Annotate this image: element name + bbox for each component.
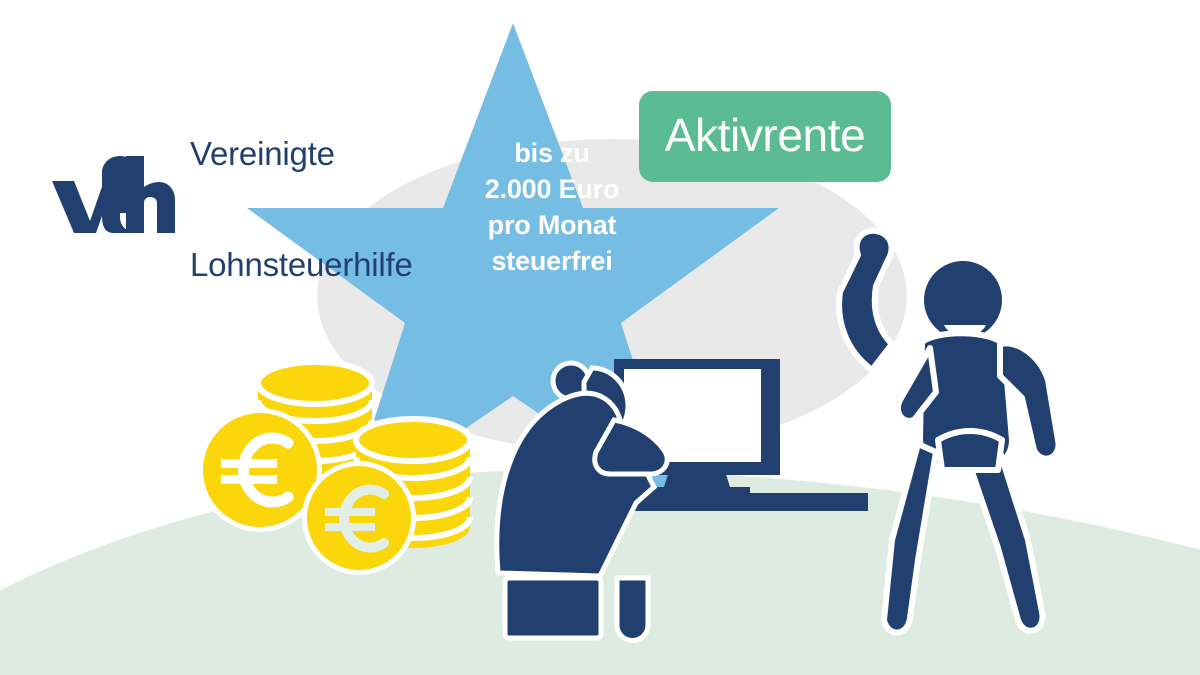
logo-wordmark: Vereinigte Lohnsteuerhilfe xyxy=(190,60,413,358)
logo-line-1: Vereinigte xyxy=(190,135,413,172)
callout-line-1: bis zu xyxy=(452,136,652,172)
callout-line-4: steuerfrei xyxy=(452,244,652,280)
callout-line-2: 2.000 Euro xyxy=(452,172,652,208)
aktivrente-badge-label: Aktivrente xyxy=(665,112,866,161)
vlh-logo-mark xyxy=(48,155,176,251)
poster-canvas: Vereinigte Lohnsteuerhilfe bis zu 2.000 … xyxy=(0,0,1200,675)
callout-line-3: pro Monat xyxy=(452,208,652,244)
logo-line-2: Lohnsteuerhilfe xyxy=(190,246,413,283)
star-callout-text: bis zu 2.000 Euro pro Monat steuerfrei xyxy=(452,136,652,280)
aktivrente-badge: Aktivrente xyxy=(639,91,891,182)
vlh-logo: Vereinigte Lohnsteuerhilfe xyxy=(48,48,413,358)
